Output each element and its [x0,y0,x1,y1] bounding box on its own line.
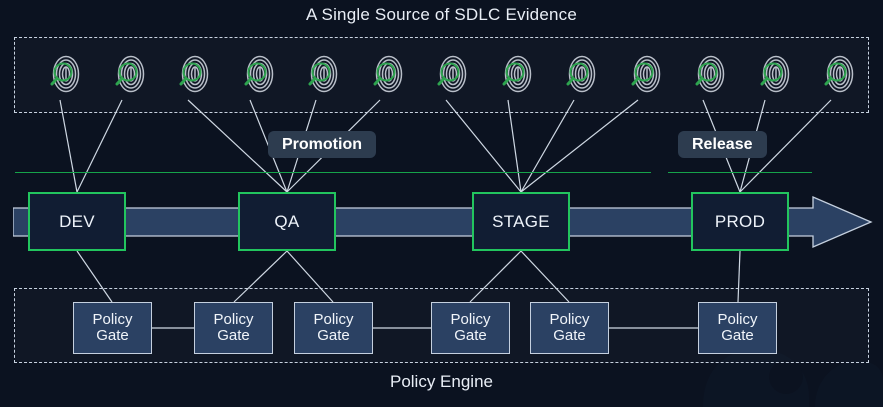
stage-label-qa: QA [274,212,299,232]
evidence-fingerprint-6 [372,51,406,97]
phase-line-release [668,172,812,173]
stage-node-qa[interactable]: QA [238,192,336,251]
policy-gate-2-label-line1: Policy [213,312,253,328]
evidence-fingerprint-13 [823,51,857,97]
policy-gate-3-label-line1: Policy [313,312,353,328]
evidence-fingerprint-9 [565,51,599,97]
evidence-fingerprint-6-glyph [372,51,406,97]
policy-gate-1[interactable]: PolicyGate [73,302,152,354]
policy-gate-6[interactable]: PolicyGate [698,302,777,354]
evidence-fingerprint-8 [501,51,535,97]
stage-label-stage: STAGE [492,212,550,232]
badge-release: Release [678,131,767,158]
policy-gate-2-label-line2: Gate [217,328,250,344]
stage-label-dev: DEV [59,212,95,232]
phase-line-promotion [15,172,651,173]
policy-gate-5-label-line2: Gate [553,328,586,344]
policy-gate-5[interactable]: PolicyGate [530,302,609,354]
badge-promotion-label: Promotion [282,136,362,154]
sdlc-evidence-diagram: A Single Source of SDLC Evidence Policy … [0,0,883,407]
stage-node-dev[interactable]: DEV [28,192,126,251]
evidence-fingerprint-2 [114,51,148,97]
evidence-fingerprint-4-glyph [243,51,277,97]
policy-gate-3[interactable]: PolicyGate [294,302,373,354]
stage-node-prod[interactable]: PROD [691,192,789,251]
evidence-fingerprint-11 [694,51,728,97]
stage-label-prod: PROD [715,212,765,232]
policy-gate-4-label-line2: Gate [454,328,487,344]
policy-gate-4-label-line1: Policy [450,312,490,328]
evidence-fingerprint-7 [436,51,470,97]
badge-promotion: Promotion [268,131,376,158]
evidence-fingerprint-3-glyph [178,51,212,97]
policy-gate-2[interactable]: PolicyGate [194,302,273,354]
policy-gate-4[interactable]: PolicyGate [431,302,510,354]
evidence-fingerprint-5-glyph [307,51,341,97]
policy-gate-5-label-line1: Policy [549,312,589,328]
policy-gate-1-label-line2: Gate [96,328,129,344]
stage-node-stage[interactable]: STAGE [472,192,570,251]
policy-gate-6-label-line1: Policy [717,312,757,328]
evidence-fingerprint-11-glyph [694,51,728,97]
badge-release-label: Release [692,136,753,154]
evidence-fingerprint-1 [49,51,83,97]
diagram-title: A Single Source of SDLC Evidence [0,5,883,25]
evidence-fingerprint-10-glyph [630,51,664,97]
evidence-fingerprint-12 [759,51,793,97]
policy-gate-1-label-line1: Policy [92,312,132,328]
evidence-fingerprint-8-glyph [501,51,535,97]
evidence-fingerprint-1-glyph [49,51,83,97]
evidence-fingerprint-7-glyph [436,51,470,97]
evidence-fingerprint-9-glyph [565,51,599,97]
evidence-fingerprint-3 [178,51,212,97]
evidence-fingerprint-13-glyph [823,51,857,97]
policy-engine-title: Policy Engine [0,372,883,392]
evidence-fingerprint-4 [243,51,277,97]
evidence-fingerprint-10 [630,51,664,97]
evidence-fingerprint-2-glyph [114,51,148,97]
evidence-fingerprint-5 [307,51,341,97]
evidence-fingerprint-12-glyph [759,51,793,97]
policy-gate-6-label-line2: Gate [721,328,754,344]
policy-gate-3-label-line2: Gate [317,328,350,344]
